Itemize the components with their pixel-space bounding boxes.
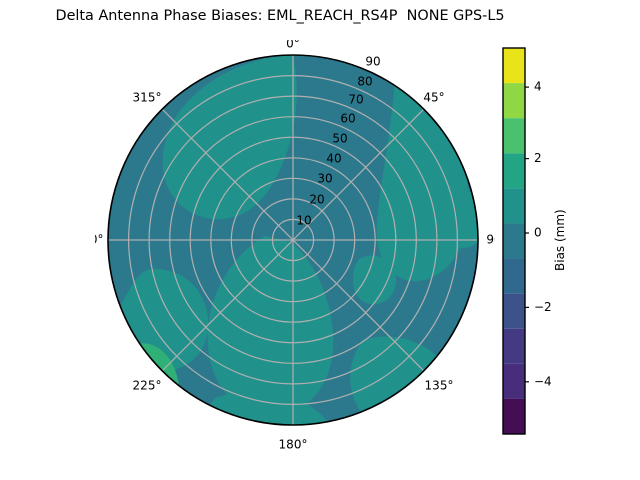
colorbar-tick-neg2: −2 xyxy=(534,300,552,314)
colorbar-tick-neg4: −4 xyxy=(534,374,552,388)
angular-tick-90: 90 xyxy=(486,233,495,247)
colorbar[interactable]: 4 2 0 −2 −4 xyxy=(503,48,525,434)
radial-tick-60: 60 xyxy=(340,112,355,126)
angular-tick-270: 270° xyxy=(95,233,103,247)
angular-tick-0: 0° xyxy=(286,40,300,51)
angular-tick-180: 180° xyxy=(279,438,308,451)
polar-grid-spokes xyxy=(108,55,478,425)
colorbar-tick-4: 4 xyxy=(534,80,542,94)
angular-tick-45: 45° xyxy=(423,91,444,105)
colorbar-axis-label: Bias (mm) xyxy=(553,180,573,300)
contour-band-high xyxy=(105,343,180,447)
radial-tick-50: 50 xyxy=(332,132,347,146)
colorbar-tick-0: 0 xyxy=(534,226,542,240)
radial-tick-30: 30 xyxy=(317,172,332,186)
contour-band-mid xyxy=(353,256,396,305)
colorbar-tick-2: 2 xyxy=(534,151,542,165)
polar-axes: 0° 45° 90 135° 180° 225° 270° 315° 10 20… xyxy=(95,40,495,450)
colorbar-tick-labels: 4 2 0 −2 −4 xyxy=(534,80,552,389)
contour-band-mid xyxy=(439,188,486,248)
radial-tick-10: 10 xyxy=(296,214,311,228)
radial-tick-70: 70 xyxy=(348,93,363,107)
polar-plot-svg: 0° 45° 90 135° 180° 225° 270° 315° 10 20… xyxy=(95,40,495,450)
angular-tick-135: 135° xyxy=(425,379,454,393)
page-title: Delta Antenna Phase Biases: EML_REACH_RS… xyxy=(0,8,560,25)
radial-tick-80: 80 xyxy=(357,75,372,89)
colorbar-bands xyxy=(503,48,525,434)
angular-tick-225: 225° xyxy=(133,379,162,393)
angular-tick-315: 315° xyxy=(133,91,162,105)
matplotlib-figure: Delta Antenna Phase Biases: EML_REACH_RS… xyxy=(0,0,640,480)
radial-tick-90: 90 xyxy=(365,55,380,69)
radial-tick-20: 20 xyxy=(309,193,324,207)
radial-tick-40: 40 xyxy=(326,152,341,166)
